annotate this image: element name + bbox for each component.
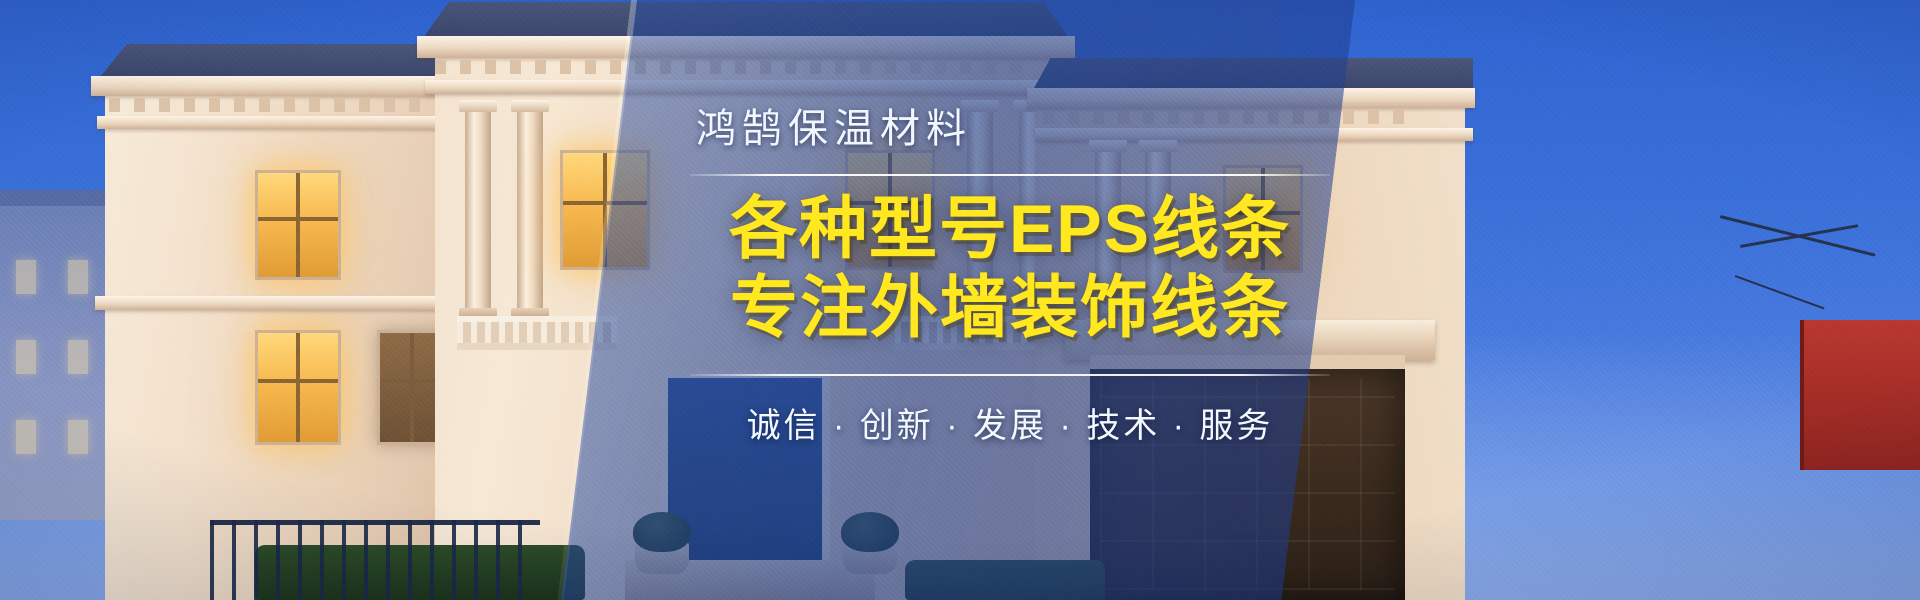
headline-line-2: 专注外墙装饰线条 — [690, 269, 1330, 348]
villa-column — [517, 110, 543, 310]
villa-left-band — [95, 296, 455, 310]
villa-left-cornice-2 — [97, 116, 453, 129]
red-container — [1800, 320, 1920, 470]
tagline: 诚信 · 创新 · 发展 · 技术 · 服务 — [690, 398, 1330, 447]
promo-banner: 鸿鹄保温材料 各种型号EPS线条 专注外墙装饰线条 诚信 · 创新 · 发展 ·… — [0, 0, 1920, 600]
villa-left-roof — [99, 44, 451, 78]
banner-copy: 鸿鹄保温材料 各种型号EPS线条 专注外墙装饰线条 诚信 · 创新 · 发展 ·… — [690, 96, 1330, 447]
villa-left-cornice — [91, 76, 459, 96]
headline-line-1: 各种型号EPS线条 — [690, 190, 1330, 269]
villa-left-dentils — [109, 98, 445, 112]
iron-fence — [210, 520, 540, 600]
divider-bottom — [690, 374, 1330, 376]
villa-window — [255, 330, 341, 445]
villa-column — [465, 110, 491, 310]
brand-name: 鸿鹄保温材料 — [690, 96, 1330, 154]
villa-window — [255, 170, 341, 280]
divider-top — [690, 174, 1330, 176]
